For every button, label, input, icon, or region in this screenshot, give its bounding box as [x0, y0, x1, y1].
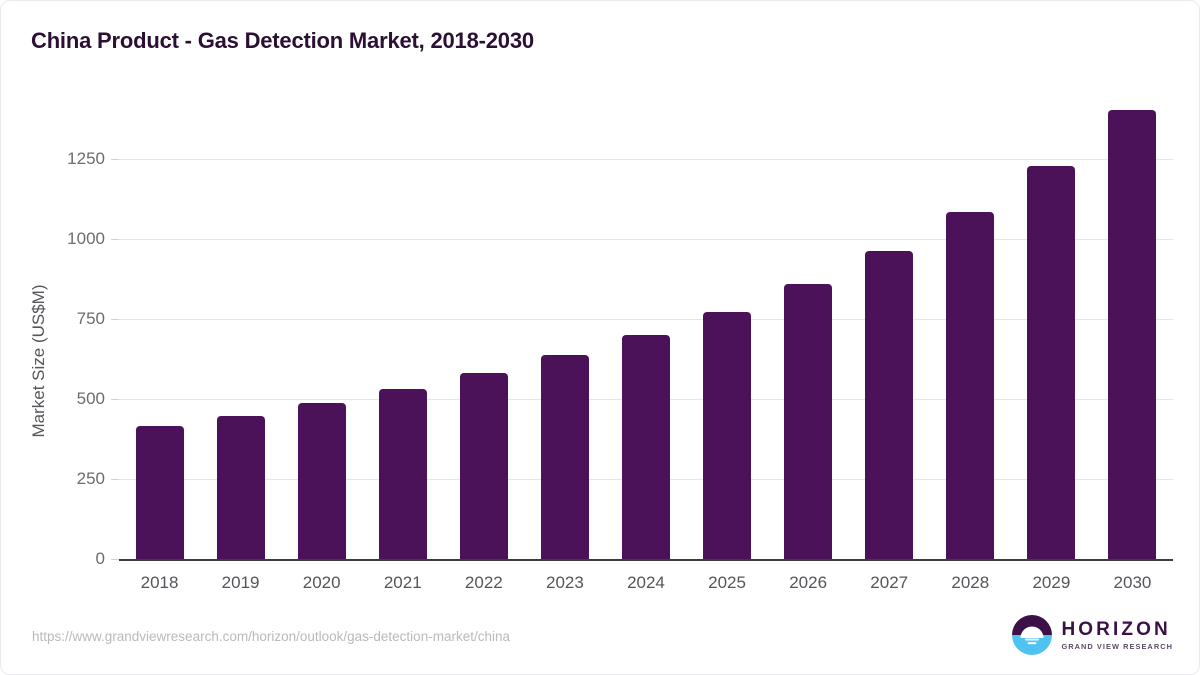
x-tick-label-2027: 2027 [849, 573, 930, 593]
bar-2023[interactable] [541, 355, 589, 559]
logo-tagline: GRAND VIEW RESEARCH [1061, 643, 1173, 650]
x-tick-label-2022: 2022 [443, 573, 524, 593]
x-tick-label-2018: 2018 [119, 573, 200, 593]
x-tick-label-2025: 2025 [687, 573, 768, 593]
x-tick-label-2026: 2026 [768, 573, 849, 593]
horizon-logo: HORIZON GRAND VIEW RESEARCH [1012, 615, 1173, 655]
x-tick-label-2028: 2028 [930, 573, 1011, 593]
logo-wordmark: HORIZON [1061, 620, 1173, 639]
chart-plot-area: Market Size (US$M) 025050075010001250 20… [1, 1, 1200, 675]
bar-2029[interactable] [1027, 166, 1075, 559]
source-url-text: https://www.grandviewresearch.com/horizo… [32, 629, 510, 644]
bars-group: 2018201920202021202220232024202520262027… [1, 1, 1200, 675]
bar-2020[interactable] [298, 403, 346, 559]
bar-2026[interactable] [784, 284, 832, 559]
bar-2024[interactable] [622, 335, 670, 559]
horizon-logo-text: HORIZON GRAND VIEW RESEARCH [1061, 620, 1173, 650]
bar-2022[interactable] [460, 373, 508, 559]
x-tick-label-2020: 2020 [281, 573, 362, 593]
bar-2019[interactable] [217, 416, 265, 559]
x-tick-label-2023: 2023 [524, 573, 605, 593]
x-tick-label-2024: 2024 [605, 573, 686, 593]
x-tick-label-2021: 2021 [362, 573, 443, 593]
chart-card: China Product - Gas Detection Market, 20… [0, 0, 1200, 675]
horizon-logo-icon [1012, 615, 1052, 655]
x-tick-label-2019: 2019 [200, 573, 281, 593]
bar-2030[interactable] [1108, 110, 1156, 559]
bar-2028[interactable] [946, 212, 994, 559]
x-tick-label-2029: 2029 [1011, 573, 1092, 593]
bar-2021[interactable] [379, 389, 427, 559]
bar-2025[interactable] [703, 312, 751, 559]
bar-2027[interactable] [865, 251, 913, 559]
bar-2018[interactable] [136, 426, 184, 559]
x-tick-label-2030: 2030 [1092, 573, 1173, 593]
